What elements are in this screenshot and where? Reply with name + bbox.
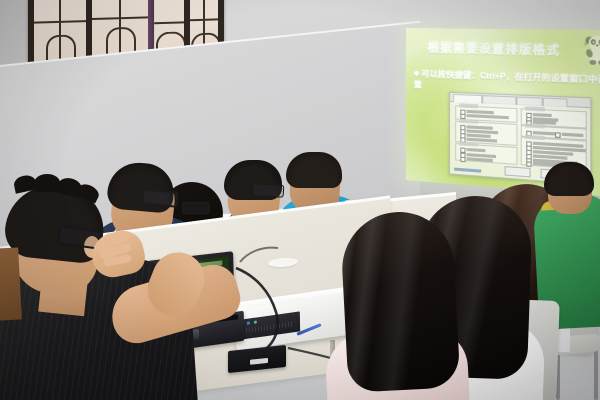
person-pink-top-hair (339, 209, 460, 393)
adapter-label (250, 358, 268, 365)
photo-scene: 根据需要设置排版格式 ◆ 可以按快捷键：Ctrl+P，在打开的设置窗口中设置 (0, 0, 600, 400)
person-green-shirt-hair (544, 162, 594, 196)
wooden-furniture-edge (0, 247, 22, 320)
